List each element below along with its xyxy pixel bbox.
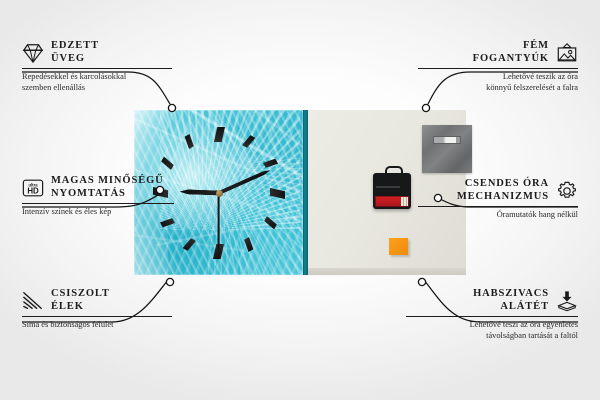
picture-hanger-icon (556, 42, 578, 64)
callout-header: CSENDES ÓRA MECHANIZMUS (418, 178, 578, 203)
diamond-icon (22, 42, 44, 64)
callout-subtitle-line2: könnyű felszerelését a falra (418, 83, 578, 93)
foam-spacer-pad (389, 238, 408, 255)
callout-title-line1: EDZETT (51, 40, 99, 53)
callout-title-line1: HABSZIVACS (473, 288, 549, 301)
callout-header: CSISZOLT ÉLEK (22, 288, 172, 313)
gear-icon (556, 180, 578, 202)
callout-subtitle-line2: távolságban tartását a faltól (406, 331, 578, 341)
callout-rule (22, 68, 172, 69)
back-panel-base-strip (308, 268, 466, 275)
callout-silent-mechanism: CSENDES ÓRA MECHANIZMUS Óramutatók hang … (418, 178, 578, 221)
callout-foam-pad: HABSZIVACS ALÁTÉT Lehetővé teszi az óra … (406, 288, 578, 341)
callout-subtitle-line1: Repedésekkel és karcolásokkal (22, 72, 172, 82)
mechanism-detail (376, 186, 400, 188)
svg-text:HD: HD (27, 186, 39, 195)
callout-rule (22, 316, 172, 317)
callout-subtitle-line1: Óramutatók hang nélkül (418, 210, 578, 220)
mechanism-hook (385, 166, 403, 177)
infographic-canvas: EDZETT ÜVEG Repedésekkel és karcolásokka… (0, 0, 600, 400)
callout-header: FÉM FOGANTYÚK (418, 40, 578, 65)
callout-subtitle-line1: Intenzív színek és éles kép (22, 207, 174, 217)
callout-title-line2: FOGANTYÚK (473, 53, 549, 66)
callout-rule (406, 316, 578, 317)
clock-mechanism (373, 173, 411, 209)
callout-title-line2: NYOMTATÁS (51, 188, 164, 201)
callout-subtitle-line2: szemben ellenállás (22, 83, 172, 93)
callout-subtitle-line1: Sima és biztonságos felület (22, 320, 172, 330)
foam-pad-arrow-icon (556, 290, 578, 312)
callout-metal-handles: FÉM FOGANTYÚK Lehetővé teszik az óra kön… (418, 40, 578, 93)
callout-title-line2: ÜVEG (51, 53, 99, 66)
callout-rule (22, 203, 174, 204)
callout-rule (418, 68, 578, 69)
clock-second-hand (218, 193, 220, 255)
callout-polished-edges: CSISZOLT ÉLEK Sima és biztonságos felüle… (22, 288, 172, 331)
callout-header: HABSZIVACS ALÁTÉT (406, 288, 578, 313)
clock-center-cap (216, 190, 223, 197)
ultra-hd-icon: ultra HD (22, 177, 44, 199)
battery (375, 196, 409, 207)
callout-title-line1: CSISZOLT (51, 288, 110, 301)
beveled-edge-icon (22, 290, 44, 312)
callout-header: EDZETT ÜVEG (22, 40, 172, 65)
callout-subtitle-line1: Lehetővé teszi az óra egyenletes (406, 320, 578, 330)
product-image (134, 110, 466, 275)
callout-title-line1: MAGAS MINŐSÉGŰ (51, 175, 164, 188)
metal-hanger (422, 125, 472, 173)
callout-title-line1: FÉM (473, 40, 549, 53)
callout-subtitle-line1: Lehetővé teszik az óra (418, 72, 578, 82)
callout-title-line2: ÉLEK (51, 301, 110, 314)
callout-tempered-glass: EDZETT ÜVEG Repedésekkel és karcolásokka… (22, 40, 172, 93)
callout-title-line1: CSENDES ÓRA (457, 178, 549, 191)
callout-header: ultra HD MAGAS MINŐSÉGŰ NYOMTATÁS (22, 175, 174, 200)
callout-title-line2: ALÁTÉT (473, 301, 549, 314)
callout-high-quality-print: ultra HD MAGAS MINŐSÉGŰ NYOMTATÁS Intenz… (22, 175, 174, 218)
callout-rule (418, 206, 578, 207)
callout-title-line2: MECHANIZMUS (457, 191, 549, 204)
